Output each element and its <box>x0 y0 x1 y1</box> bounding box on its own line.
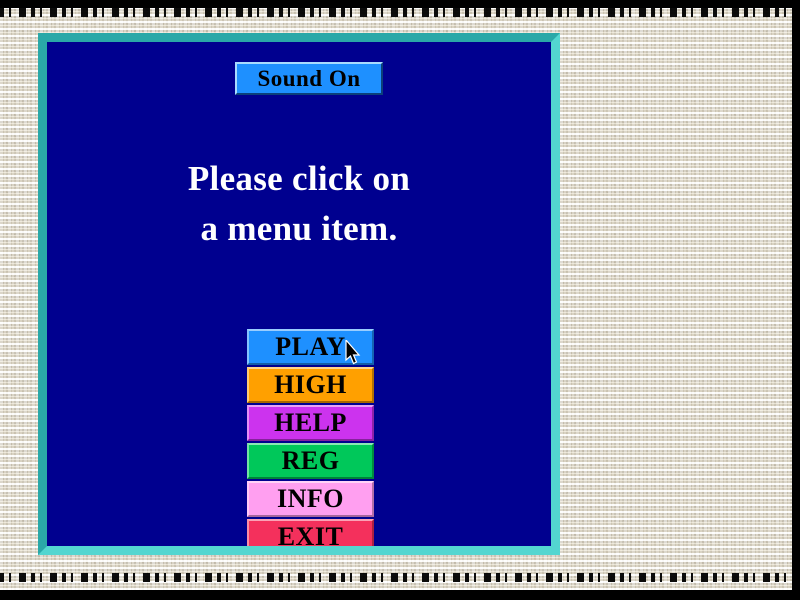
texture-edge-top <box>0 8 792 17</box>
texture-edge-bottom <box>0 573 792 582</box>
prompt-message: Please click on a menu item. <box>47 154 551 255</box>
application-screen: Sound On Please click on a menu item. PL… <box>0 0 800 600</box>
menu-button-label: PLAY <box>275 332 345 362</box>
menu-button-help[interactable]: HELP <box>247 405 374 441</box>
prompt-line-1: Please click on <box>47 154 551 204</box>
menu-button-info[interactable]: INFO <box>247 481 374 517</box>
menu-button-stack: PLAYHIGHHELPREGINFOEXIT <box>247 329 374 555</box>
menu-button-label: INFO <box>277 484 344 514</box>
menu-button-label: HIGH <box>274 370 347 400</box>
menu-button-high[interactable]: HIGH <box>247 367 374 403</box>
menu-button-play[interactable]: PLAY <box>247 329 374 365</box>
menu-button-label: REG <box>282 446 340 476</box>
menu-button-label: HELP <box>274 408 347 438</box>
menu-button-exit[interactable]: EXIT <box>247 519 374 555</box>
sound-toggle-label: Sound On <box>257 66 360 92</box>
main-menu-panel: Sound On Please click on a menu item. PL… <box>38 33 560 555</box>
menu-button-label: EXIT <box>278 522 344 552</box>
sound-toggle-button[interactable]: Sound On <box>235 62 383 95</box>
prompt-line-2: a menu item. <box>47 204 551 254</box>
menu-button-reg[interactable]: REG <box>247 443 374 479</box>
